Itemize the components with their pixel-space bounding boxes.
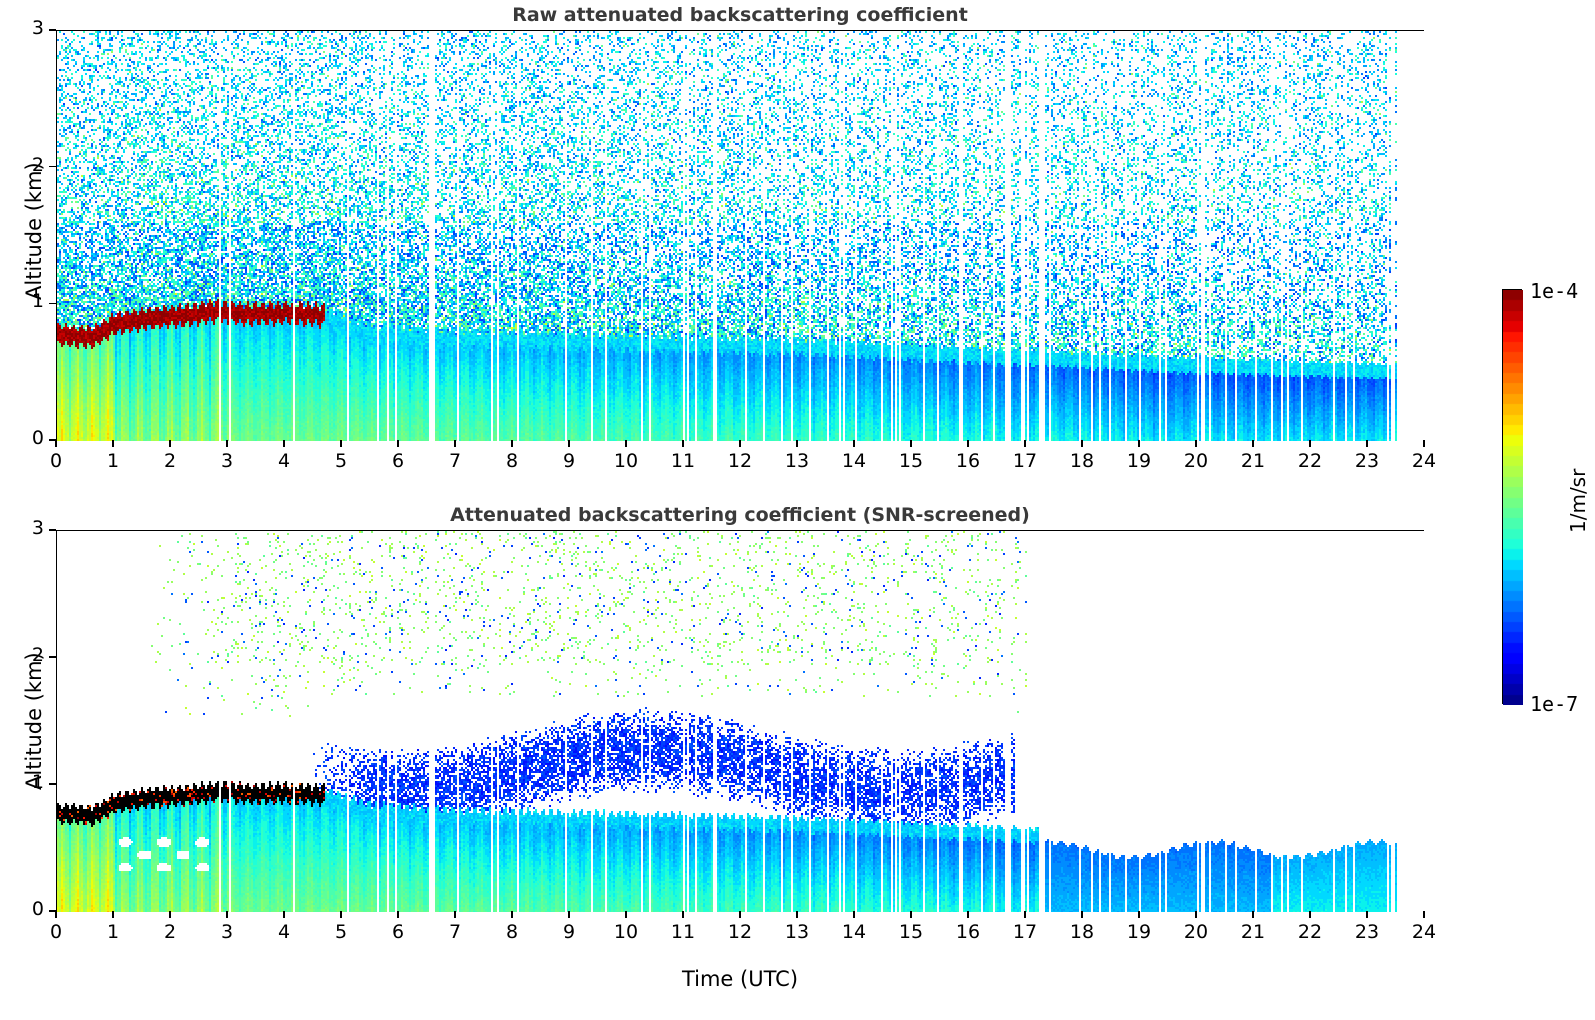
x-tick-label: 17	[997, 450, 1053, 472]
x-tick-label: 14	[826, 450, 882, 472]
x-tick	[226, 440, 228, 447]
x-tick-label: 12	[712, 450, 768, 472]
x-tick-label: 21	[1225, 450, 1281, 472]
y-tick-label: 0	[0, 898, 44, 920]
x-tick-label: 21	[1225, 921, 1281, 943]
x-tick-label: 2	[142, 450, 198, 472]
x-tick	[1138, 440, 1140, 447]
y-tick	[49, 910, 56, 912]
colorbar-unit-label: 1/m/sr	[1566, 469, 1590, 533]
colorbar-max-label: 1e-4	[1530, 279, 1578, 303]
x-tick-label: 18	[1054, 450, 1110, 472]
x-tick	[739, 911, 741, 918]
x-tick	[796, 440, 798, 447]
x-tick-label: 10	[598, 921, 654, 943]
x-tick-label: 13	[769, 921, 825, 943]
x-tick	[1252, 440, 1254, 447]
x-tick-label: 1	[85, 450, 141, 472]
x-tick-label: 0	[28, 921, 84, 943]
x-tick	[682, 911, 684, 918]
x-tick	[55, 440, 57, 447]
panel-screened-ylabel: Altitude (km)	[22, 652, 46, 790]
x-tick	[112, 911, 114, 918]
x-tick-label: 23	[1339, 450, 1395, 472]
x-tick	[1252, 911, 1254, 918]
x-tick-label: 6	[370, 450, 426, 472]
colorbar-gradient	[1503, 290, 1523, 705]
x-tick-label: 3	[199, 450, 255, 472]
x-tick-label: 20	[1168, 450, 1224, 472]
x-tick-label: 17	[997, 921, 1053, 943]
x-tick	[169, 911, 171, 918]
x-tick	[1081, 911, 1083, 918]
y-tick-label: 0	[0, 427, 44, 449]
x-tick	[283, 911, 285, 918]
x-tick	[1366, 440, 1368, 447]
y-tick-label: 3	[0, 17, 44, 39]
x-tick-label: 15	[883, 450, 939, 472]
x-tick	[910, 440, 912, 447]
y-tick	[49, 656, 56, 658]
x-tick	[568, 911, 570, 918]
x-tick-label: 7	[427, 921, 483, 943]
x-tick	[1138, 911, 1140, 918]
x-tick-label: 22	[1282, 450, 1338, 472]
x-tick	[967, 911, 969, 918]
x-tick	[1024, 911, 1026, 918]
x-tick-label: 6	[370, 921, 426, 943]
x-tick	[283, 440, 285, 447]
x-tick	[910, 911, 912, 918]
x-tick-label: 19	[1111, 921, 1167, 943]
panel-raw-heatmap	[57, 31, 1425, 441]
x-tick	[55, 911, 57, 918]
y-tick	[49, 529, 56, 531]
x-tick	[226, 911, 228, 918]
x-tick	[1081, 440, 1083, 447]
x-tick-label: 7	[427, 450, 483, 472]
x-tick-label: 24	[1396, 450, 1452, 472]
colorbar-frame	[1502, 289, 1522, 704]
y-tick	[49, 303, 56, 305]
x-tick-label: 9	[541, 450, 597, 472]
x-tick	[1366, 911, 1368, 918]
x-tick-label: 8	[484, 450, 540, 472]
x-tick	[625, 440, 627, 447]
x-tick-label: 23	[1339, 921, 1395, 943]
x-tick	[1309, 911, 1311, 918]
panel-raw-title: Raw attenuated backscattering coefficien…	[56, 4, 1424, 26]
y-tick	[49, 166, 56, 168]
x-tick-label: 24	[1396, 921, 1452, 943]
x-tick-label: 19	[1111, 450, 1167, 472]
x-tick	[682, 440, 684, 447]
x-tick-label: 20	[1168, 921, 1224, 943]
colorbar-min-label: 1e-7	[1530, 692, 1578, 716]
x-tick	[511, 440, 513, 447]
x-tick-label: 4	[256, 921, 312, 943]
x-tick	[1024, 440, 1026, 447]
x-tick	[853, 440, 855, 447]
x-tick	[967, 440, 969, 447]
x-tick-label: 3	[199, 921, 255, 943]
x-tick	[1423, 911, 1425, 918]
x-tick-label: 13	[769, 450, 825, 472]
panel-screened-title: Attenuated backscattering coefficient (S…	[56, 504, 1424, 526]
panel-raw-axes	[56, 30, 1424, 440]
x-tick-label: 8	[484, 921, 540, 943]
panel-screened-axes	[56, 530, 1424, 911]
y-tick	[49, 439, 56, 441]
x-tick-label: 14	[826, 921, 882, 943]
x-tick-label: 9	[541, 921, 597, 943]
x-tick	[1195, 440, 1197, 447]
x-tick	[625, 911, 627, 918]
x-tick-label: 5	[313, 450, 369, 472]
x-tick-label: 15	[883, 921, 939, 943]
x-tick-label: 11	[655, 450, 711, 472]
panel-screened-xlabel: Time (UTC)	[0, 967, 1480, 991]
panel-screened-heatmap	[57, 531, 1425, 912]
x-tick-label: 10	[598, 450, 654, 472]
x-tick	[397, 911, 399, 918]
x-tick	[796, 911, 798, 918]
x-tick-label: 5	[313, 921, 369, 943]
x-tick-label: 16	[940, 921, 996, 943]
x-tick-label: 18	[1054, 921, 1110, 943]
x-tick	[340, 911, 342, 918]
x-tick	[1309, 440, 1311, 447]
x-tick	[112, 440, 114, 447]
x-tick	[1195, 911, 1197, 918]
x-tick	[568, 440, 570, 447]
x-tick	[1423, 440, 1425, 447]
y-tick	[49, 783, 56, 785]
x-tick-label: 2	[142, 921, 198, 943]
x-tick-label: 12	[712, 921, 768, 943]
panel-raw-ylabel: Altitude (km)	[22, 162, 46, 300]
x-tick	[853, 911, 855, 918]
y-tick	[49, 29, 56, 31]
x-tick-label: 1	[85, 921, 141, 943]
x-tick	[169, 440, 171, 447]
x-tick-label: 22	[1282, 921, 1338, 943]
x-tick	[511, 911, 513, 918]
x-tick	[739, 440, 741, 447]
x-tick-label: 11	[655, 921, 711, 943]
x-tick-label: 16	[940, 450, 996, 472]
x-tick	[397, 440, 399, 447]
x-tick-label: 4	[256, 450, 312, 472]
y-tick-label: 3	[0, 517, 44, 539]
x-tick-label: 0	[28, 450, 84, 472]
x-tick	[454, 911, 456, 918]
x-tick	[340, 440, 342, 447]
x-tick	[454, 440, 456, 447]
